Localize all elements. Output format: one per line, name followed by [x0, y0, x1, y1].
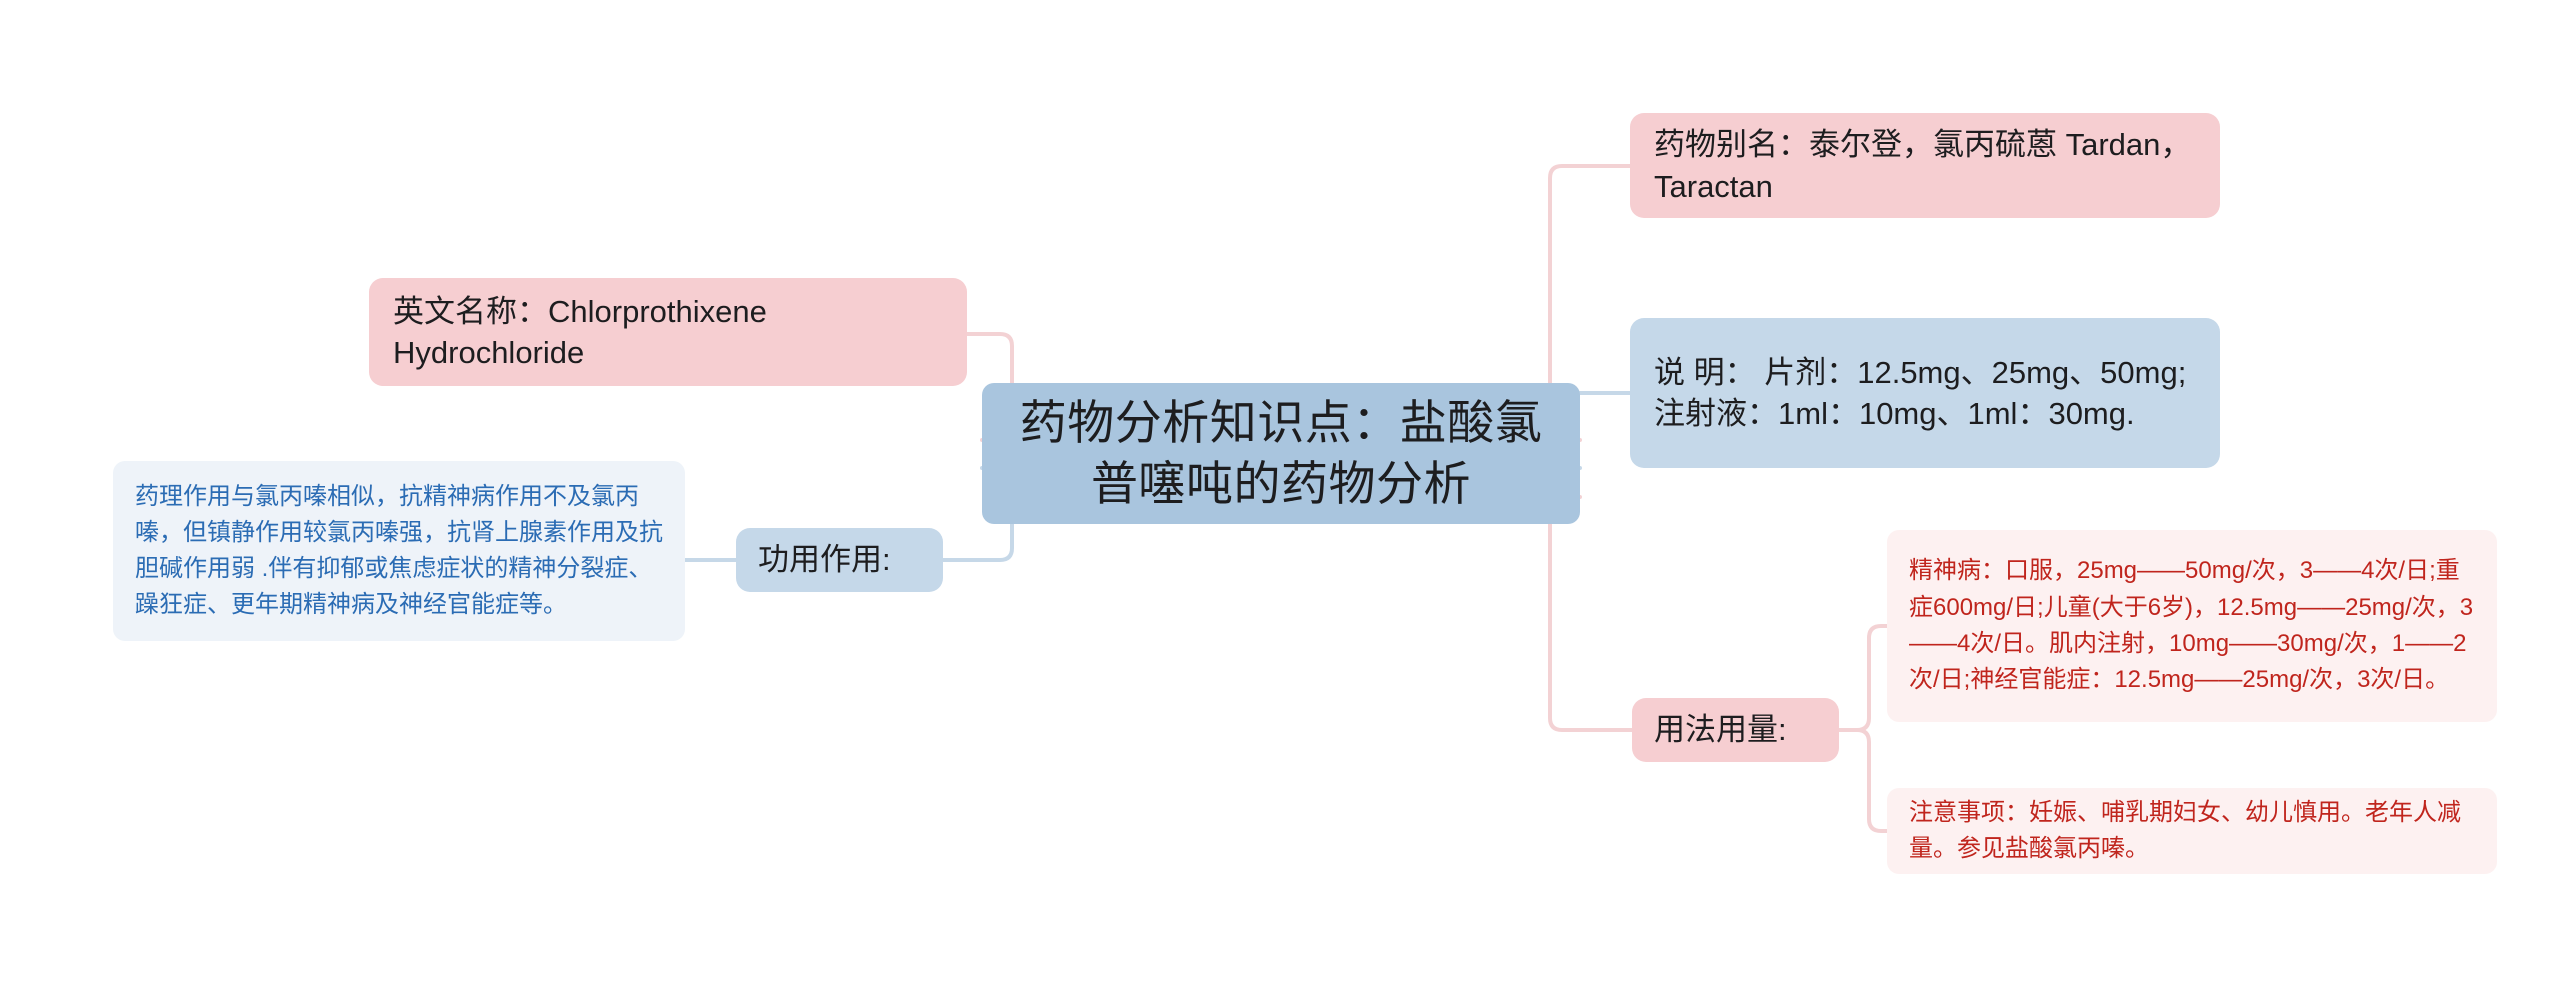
node-function-label-text: 功用作用: [758, 541, 921, 578]
node-english-name-label: 英文名称：Chlorprothixene Hydrochloride [393, 291, 943, 373]
connector-dosage-detail [1839, 626, 1887, 730]
node-pharmacology-note-label: 药理作用与氯丙嗪相似，抗精神病作用不及氯丙嗪，但镇静作用较氯丙嗪强，抗肾上腺素作… [135, 479, 663, 623]
root-node[interactable]: 药物分析知识点：盐酸氯普噻吨的药物分析 [982, 383, 1580, 524]
node-alias-label: 药物别名：泰尔登，氯丙硫蒽 Tardan，Taractan [1654, 124, 2196, 206]
connector-caution [1839, 730, 1887, 831]
node-caution[interactable]: 注意事项：妊娠、哺乳期妇女、幼儿慎用。老年人减量。参见盐酸氯丙嗪。 [1887, 788, 2497, 874]
node-dosage-label-text: 用法用量: [1654, 711, 1817, 748]
node-specification-label: 说 明： 片剂：12.5mg、25mg、50mg;注射液：1ml：10mg、1m… [1654, 352, 2196, 434]
node-dosage-detail[interactable]: 精神病：口服，25mg——50mg/次，3——4次/日;重症600mg/日;儿童… [1887, 530, 2497, 722]
node-specification[interactable]: 说 明： 片剂：12.5mg、25mg、50mg;注射液：1ml：10mg、1m… [1630, 318, 2220, 468]
node-function-label[interactable]: 功用作用: [736, 528, 943, 592]
node-pharmacology-note[interactable]: 药理作用与氯丙嗪相似，抗精神病作用不及氯丙嗪，但镇静作用较氯丙嗪强，抗肾上腺素作… [113, 461, 685, 641]
node-english-name[interactable]: 英文名称：Chlorprothixene Hydrochloride [369, 278, 967, 386]
root-node-label: 药物分析知识点：盐酸氯普噻吨的药物分析 [1008, 393, 1554, 513]
node-dosage-detail-label: 精神病：口服，25mg——50mg/次，3——4次/日;重症600mg/日;儿童… [1909, 553, 2475, 699]
connector-dosage-label [1550, 497, 1632, 730]
node-alias[interactable]: 药物别名：泰尔登，氯丙硫蒽 Tardan，Taractan [1630, 113, 2220, 218]
node-caution-label: 注意事项：妊娠、哺乳期妇女、幼儿慎用。老年人减量。参见盐酸氯丙嗪。 [1909, 795, 2475, 868]
node-dosage-label[interactable]: 用法用量: [1632, 698, 1839, 762]
